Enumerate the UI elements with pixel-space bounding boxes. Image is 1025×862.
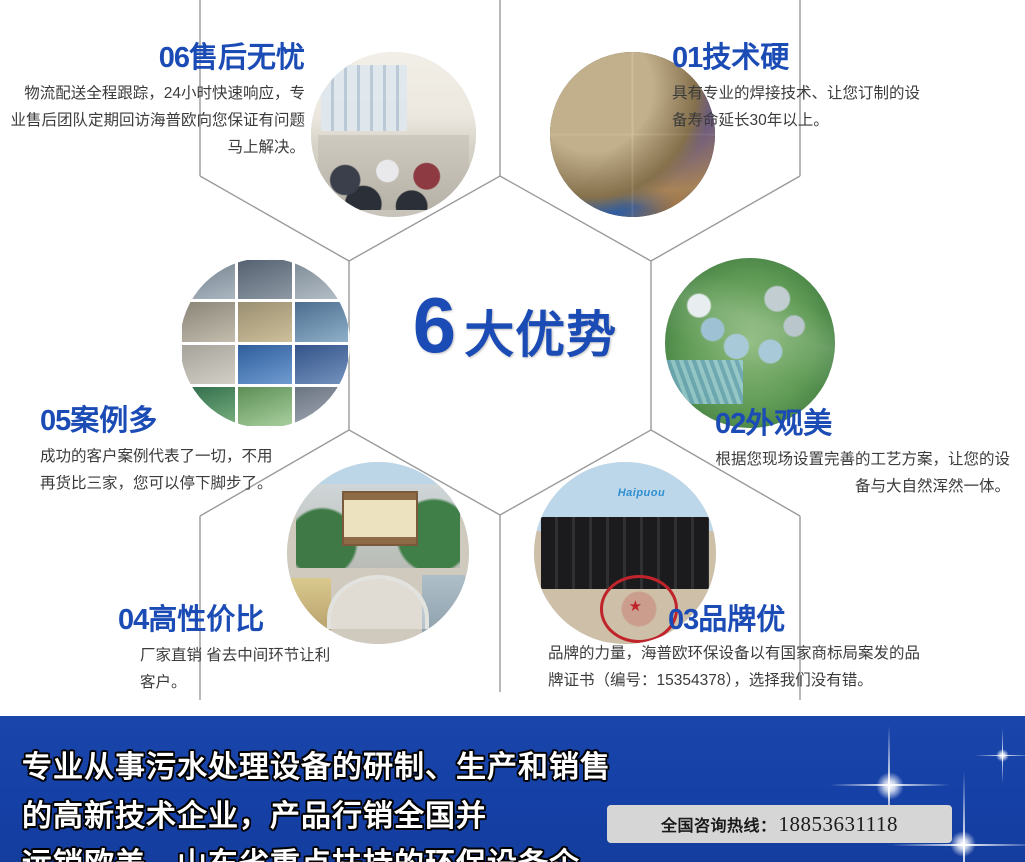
sparkle-icon-small	[975, 728, 1025, 784]
advantage-block-01: 01技术硬 具有专业的焊接技术、让您订制的设备寿命延长30年以上。	[672, 42, 972, 135]
advantage-title-02: 外观美	[745, 408, 832, 440]
advantage-heading-06: 06售后无忧	[10, 42, 305, 75]
hotline-number: 18853631118	[779, 812, 898, 837]
advantage-body-03: 品牌的力量，海普欧环保设备以有国家商标局案发的品牌证书（编号：15354378）…	[548, 641, 928, 694]
advantage-title-04: 高性价比	[148, 604, 264, 636]
advantage-heading-02: 02外观美	[715, 408, 1010, 441]
infographic-root: 6 大优势 06售后无忧 物流配送全程跟踪，24小时快速响应，专业售后团队定期回…	[0, 0, 1025, 862]
hotline-label: 全国咨询热线：	[661, 812, 777, 836]
photo-circle-02	[665, 258, 835, 428]
advantage-heading-01: 01技术硬	[672, 42, 972, 75]
advantage-title-01: 技术硬	[702, 42, 789, 74]
advantage-number-04: 04	[118, 604, 148, 636]
office-staff-photo	[311, 52, 476, 217]
advantage-block-04: 04高性价比 厂家直销 省去中间环节让利客户。	[118, 604, 368, 697]
advantage-title-06: 售后无忧	[189, 42, 305, 74]
advantage-number-03: 03	[668, 604, 698, 636]
advantage-number-02: 02	[715, 408, 745, 440]
advantage-body-02: 根据您现场设置完善的工艺方案，让您的设备与大自然浑然一体。	[715, 447, 1010, 500]
advantage-body-04: 厂家直销 省去中间环节让利客户。	[140, 643, 340, 696]
advantage-heading-05: 05案例多	[40, 405, 305, 438]
advantage-title-05: 案例多	[70, 405, 157, 437]
photo-circle-05	[180, 258, 350, 428]
advantage-body-01: 具有专业的焊接技术、让您订制的设备寿命延长30年以上。	[672, 81, 930, 134]
advantage-block-06: 06售后无忧 物流配送全程跟踪，24小时快速响应，专业售后团队定期回访海普欧向您…	[10, 42, 305, 161]
advantage-block-05: 05案例多 成功的客户案例代表了一切，不用再货比三家，您可以停下脚步了。	[40, 405, 305, 498]
advantage-heading-03: 03品牌优	[668, 604, 968, 637]
advantage-body-05: 成功的客户案例代表了一切，不用再货比三家，您可以停下脚步了。	[40, 444, 278, 497]
collage-grid	[180, 258, 350, 428]
advantage-body-06: 物流配送全程跟踪，24小时快速响应，专业售后团队定期回访海普欧向您保证有问题马上…	[10, 81, 305, 161]
center-word: 大优势	[464, 295, 617, 367]
center-label: 6 大优势	[380, 290, 650, 386]
banner-line-2: 远销欧美，山东省重点扶持的环保设备企业。	[22, 841, 622, 862]
photo-circle-06	[311, 52, 476, 217]
advantage-number-01: 01	[672, 42, 702, 74]
banner-line-1: 专业从事污水处理设备的研制、生产和销售的高新技术企业，产品行销全国并	[22, 744, 622, 841]
hotline-box[interactable]: 全国咨询热线： 18853631118	[607, 805, 952, 843]
advantage-number-05: 05	[40, 405, 70, 437]
advantage-number-06: 06	[159, 42, 189, 74]
advantage-heading-04: 04高性价比	[118, 604, 368, 637]
advantage-block-03: 03品牌优 品牌的力量，海普欧环保设备以有国家商标局案发的品牌证书（编号：153…	[548, 604, 968, 695]
case-collage-photo	[180, 258, 350, 428]
haipuou-logo: Haipuou	[618, 487, 666, 499]
advantage-title-03: 品牌优	[698, 604, 785, 636]
aerial-treatment-plant-photo	[665, 258, 835, 428]
center-number: 6	[413, 290, 454, 360]
banner-text: 专业从事污水处理设备的研制、生产和销售的高新技术企业，产品行销全国并 远销欧美，…	[22, 744, 622, 862]
advantage-block-02: 02外观美 根据您现场设置完善的工艺方案，让您的设备与大自然浑然一体。	[715, 408, 1010, 501]
